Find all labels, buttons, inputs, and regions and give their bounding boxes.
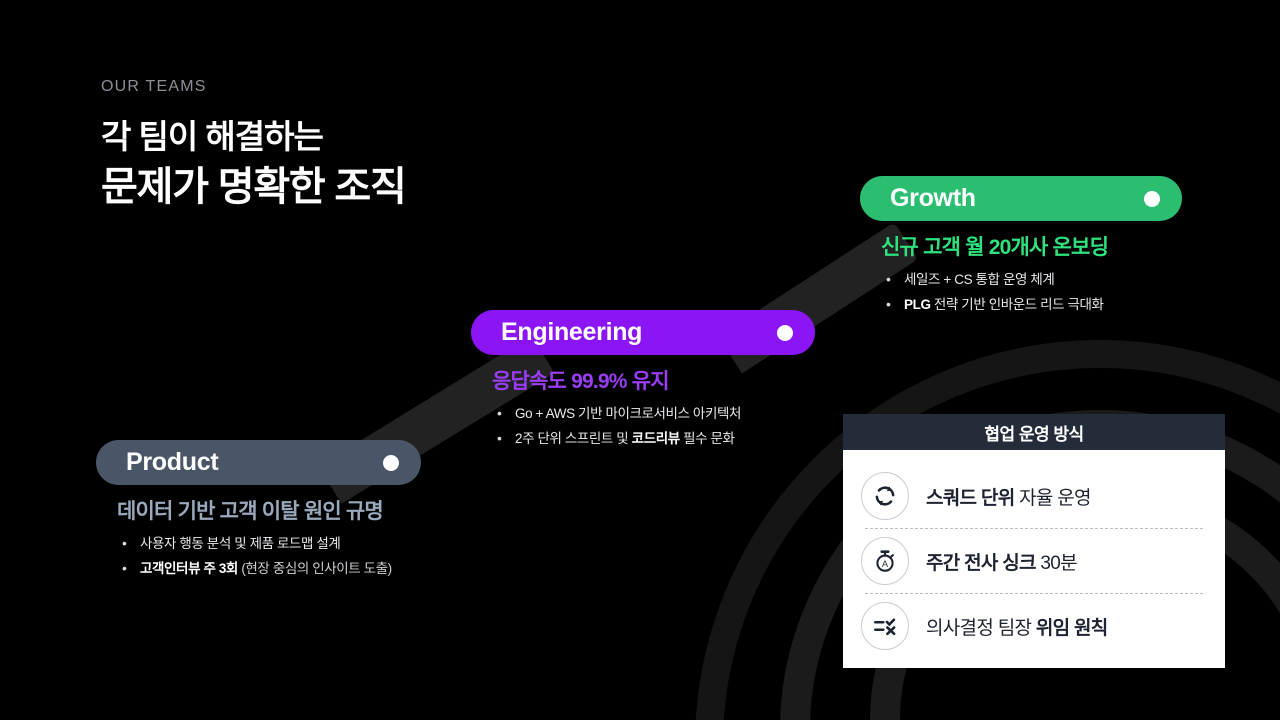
collaboration-panel: 협업 운영 방식 스쿼드 단위 자율 운영 <box>843 414 1225 668</box>
team-label-growth: Growth <box>890 184 976 213</box>
page-title-line2: 문제가 명확한 조직 <box>101 167 406 207</box>
page-title-line1: 각 팀이 해결하는 <box>101 120 406 153</box>
team-bullets-engineering: Go + AWS 기반 마이크로서비스 아키텍처 2주 단위 스프린트 및 코드… <box>497 407 821 445</box>
list-item: 고객인터뷰 주 3회 (현장 중심의 인사이트 도출) <box>122 562 436 576</box>
list-item: PLG 전략 기반 인바운드 리드 극대화 <box>886 298 1185 312</box>
ops-text-delegation: 의사결정 팀장 위임 원칙 <box>926 613 1108 640</box>
svg-text:A: A <box>882 559 889 569</box>
team-subtitle-growth: 신규 고객 월 20개사 온보딩 <box>881 231 1185 261</box>
ops-text-sync: 주간 전사 싱크 30분 <box>926 548 1077 575</box>
list-item: 2주 단위 스프린트 및 코드리뷰 필수 문화 <box>497 432 821 446</box>
decision-check-x-icon <box>861 602 909 650</box>
ops-row-sync[interactable]: A 주간 전사 싱크 30분 <box>861 529 1207 593</box>
ops-row-delegation[interactable]: 의사결정 팀장 위임 원칙 <box>861 594 1207 658</box>
team-card-growth[interactable]: Growth 신규 고객 월 20개사 온보딩 세일즈 + CS 통합 운영 체… <box>860 176 1185 322</box>
team-subtitle-product: 데이터 기반 고객 이탈 원인 규명 <box>117 495 436 525</box>
status-dot-icon <box>777 325 793 341</box>
team-subtitle-engineering: 응답속도 99.9% 유지 <box>492 365 821 395</box>
collaboration-panel-header: 협업 운영 방식 <box>843 414 1225 450</box>
team-pill-growth[interactable]: Growth <box>860 176 1182 221</box>
list-item: 사용자 행동 분석 및 제품 로드맵 설계 <box>122 537 436 551</box>
team-bullets-product: 사용자 행동 분석 및 제품 로드맵 설계 고객인터뷰 주 3회 (현장 중심의… <box>122 537 436 575</box>
team-label-engineering: Engineering <box>501 318 642 347</box>
slide-canvas: OUR TEAMS 각 팀이 해결하는 문제가 명확한 조직 Product 데… <box>0 0 1280 720</box>
sync-circle-icon <box>861 472 909 520</box>
ops-row-squad[interactable]: 스쿼드 단위 자율 운영 <box>861 464 1207 528</box>
team-card-product[interactable]: Product 데이터 기반 고객 이탈 원인 규명 사용자 행동 분석 및 제… <box>96 440 436 586</box>
team-label-product: Product <box>126 448 218 477</box>
ops-text-squad: 스쿼드 단위 자율 운영 <box>926 483 1091 510</box>
status-dot-icon <box>1144 191 1160 207</box>
team-pill-product[interactable]: Product <box>96 440 421 485</box>
collaboration-panel-title: 협업 운영 방식 <box>984 420 1083 445</box>
team-pill-engineering[interactable]: Engineering <box>471 310 815 355</box>
list-item: 세일즈 + CS 통합 운영 체계 <box>886 273 1185 287</box>
collaboration-panel-body: 스쿼드 단위 자율 운영 A 주간 전사 싱크 30분 <box>843 450 1225 658</box>
eyebrow-label: OUR TEAMS <box>101 78 406 96</box>
team-bullets-growth: 세일즈 + CS 통합 운영 체계 PLG 전략 기반 인바운드 리드 극대화 <box>886 273 1185 311</box>
list-item: Go + AWS 기반 마이크로서비스 아키텍처 <box>497 407 821 421</box>
page-heading: OUR TEAMS 각 팀이 해결하는 문제가 명확한 조직 <box>101 78 406 207</box>
team-card-engineering[interactable]: Engineering 응답속도 99.9% 유지 Go + AWS 기반 마이… <box>471 310 821 456</box>
stopwatch-icon: A <box>861 537 909 585</box>
status-dot-icon <box>383 455 399 471</box>
